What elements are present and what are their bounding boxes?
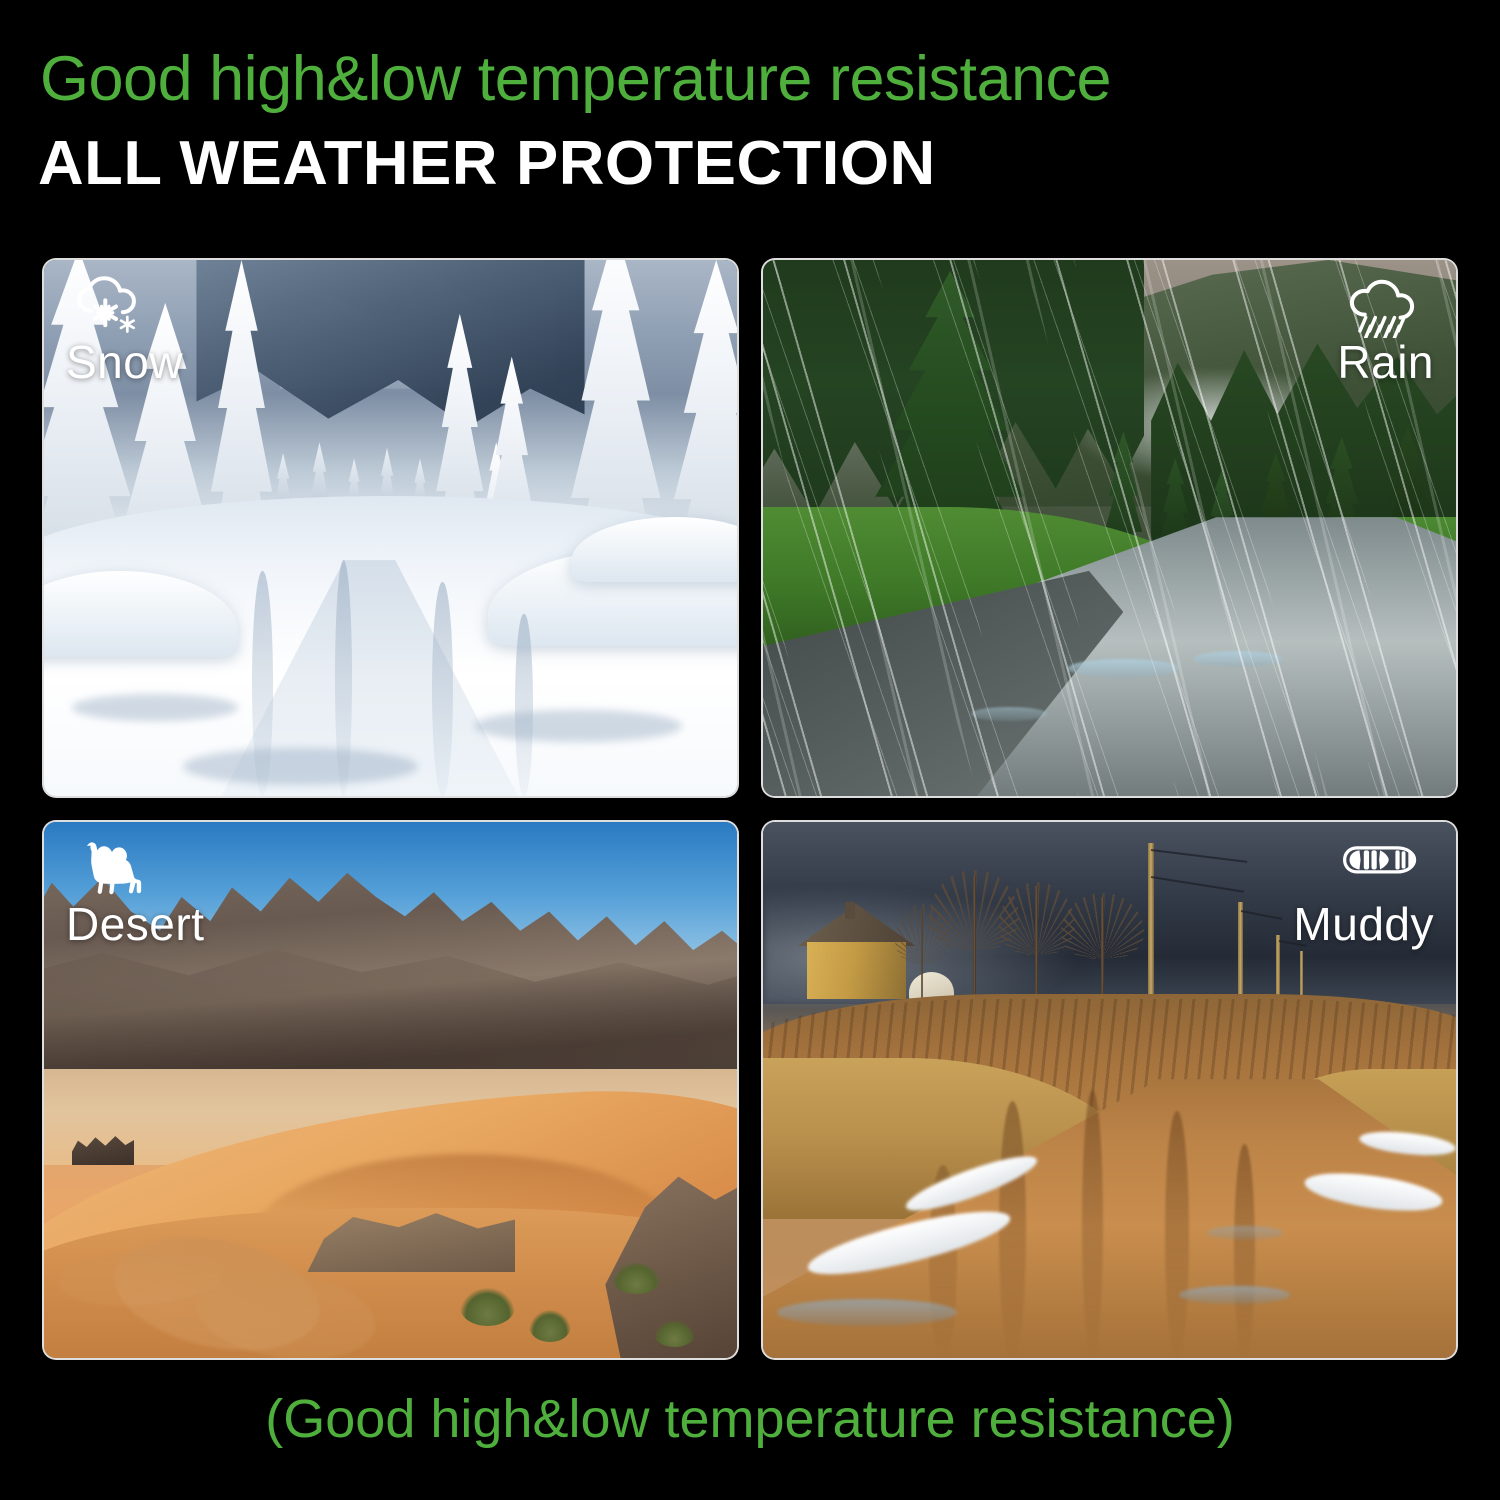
panel-muddy[interactable]: Muddy	[761, 820, 1458, 1360]
camel-icon	[66, 838, 158, 900]
weather-panel-grid: Snow	[42, 258, 1458, 1360]
footer-caption: (Good high&low temperature resistance)	[0, 1392, 1500, 1446]
boot-print-icon	[1336, 838, 1428, 900]
subheadline-text: ALL WEATHER PROTECTION	[38, 133, 1497, 195]
desert-label-text: Desert	[66, 902, 204, 947]
headline-text: Good high&low temperature resistance	[40, 48, 1470, 111]
panel-rain[interactable]: Rain	[761, 258, 1458, 798]
desert-label-badge: Desert	[66, 838, 204, 947]
muddy-label-text: Muddy	[1293, 902, 1434, 947]
muddy-label-badge: Muddy	[1293, 838, 1434, 947]
all-weather-protection-infographic: Good high&low temperature resistance ALL…	[0, 0, 1500, 1500]
snow-label-text: Snow	[66, 340, 183, 385]
cloud-rain-icon	[1336, 276, 1428, 338]
rain-label-text: Rain	[1337, 340, 1434, 385]
rain-label-badge: Rain	[1336, 276, 1434, 385]
cloud-snow-icon	[66, 276, 158, 338]
panel-snow[interactable]: Snow	[42, 258, 739, 798]
snow-label-badge: Snow	[66, 276, 183, 385]
panel-desert[interactable]: Desert	[42, 820, 739, 1360]
